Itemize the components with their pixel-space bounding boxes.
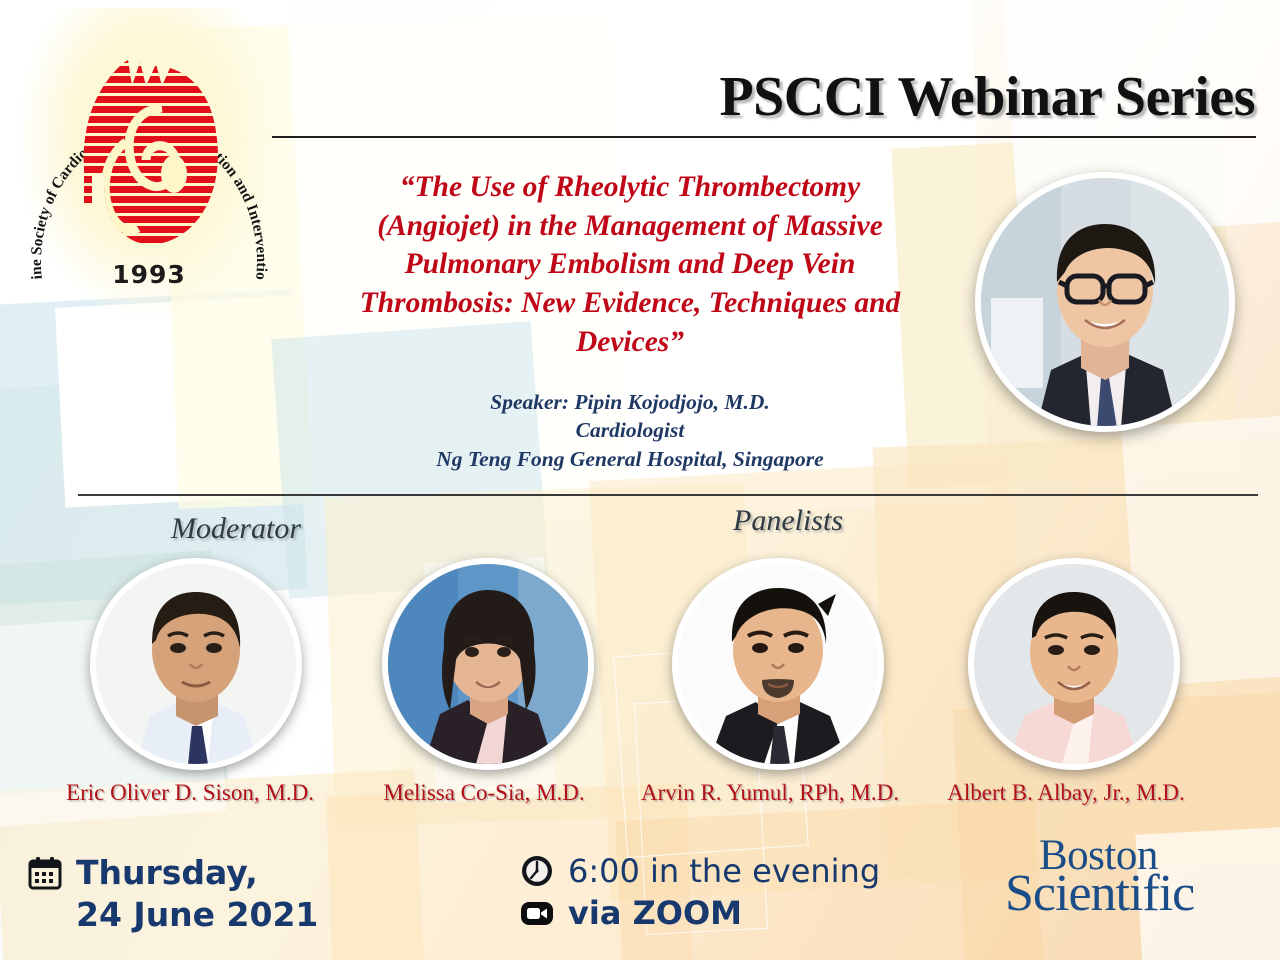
- section-divider: [78, 494, 1258, 496]
- person-card: Eric Oliver D. Sison, M.D.: [90, 558, 340, 806]
- event-day: Thursday,: [76, 852, 318, 894]
- sponsor-line-2: Scientific: [1005, 873, 1245, 916]
- event-time-text: 6:00 in the evening: [568, 852, 880, 890]
- speaker-name: Speaker: Pipin Kojodjojo, M.D.: [330, 388, 930, 416]
- striped-heart-icon: [70, 56, 230, 256]
- person-name: Albert B. Albay, Jr., M.D.: [916, 780, 1216, 806]
- person-card: Arvin R. Yumul, RPh, M.D.: [672, 558, 920, 806]
- page-title-text: PSCCI Webinar Series: [615, 68, 1255, 127]
- speaker-affiliation: Ng Teng Fong General Hospital, Singapore: [330, 445, 930, 473]
- header-divider: [272, 136, 1256, 138]
- event-date-block: Thursday, 24 June 2021: [28, 852, 318, 935]
- person-name: Eric Oliver D. Sison, M.D.: [40, 780, 340, 806]
- person-card: Albert B. Albay, Jr., M.D.: [968, 558, 1216, 806]
- event-platform-text: via ZOOM: [568, 894, 742, 932]
- avatar: [968, 558, 1180, 770]
- person-name: Melissa Co-Sia, M.D.: [334, 780, 634, 806]
- person-name: Arvin R. Yumul, RPh, M.D.: [620, 780, 920, 806]
- talk-title: “The Use of Rheolytic Thrombectomy (Angi…: [300, 168, 960, 361]
- webinar-poster: Philippine Society of Cardiovascular Cat…: [0, 0, 1280, 960]
- moderator-label: Moderator: [126, 512, 346, 546]
- panelists-label: Panelists: [608, 504, 968, 538]
- clock-icon: [520, 854, 554, 888]
- talk-title-line: Devices”: [300, 323, 960, 362]
- speaker-portrait: [975, 172, 1235, 432]
- video-camera-icon: [520, 896, 554, 930]
- speaker-info: Speaker: Pipin Kojodjojo, M.D. Cardiolog…: [330, 388, 930, 473]
- calendar-icon: [28, 856, 62, 890]
- sponsor-logo: Boston Scientific: [1005, 838, 1245, 916]
- talk-title-line: “The Use of Rheolytic Thrombectomy: [300, 168, 960, 207]
- talk-title-line: (Angiojet) in the Management of Massive: [300, 207, 960, 246]
- event-time-block: 6:00 in the evening via ZOOM: [520, 852, 880, 936]
- talk-title-line: Pulmonary Embolism and Deep Vein: [300, 245, 960, 284]
- page-title: PSCCI Webinar Series: [615, 68, 1255, 127]
- speaker-specialty: Cardiologist: [330, 416, 930, 444]
- pscci-logo: Philippine Society of Cardiovascular Cat…: [18, 8, 280, 318]
- avatar: [672, 558, 884, 770]
- event-platform-row: via ZOOM: [520, 894, 880, 932]
- event-time-row: 6:00 in the evening: [520, 852, 880, 890]
- avatar: [382, 558, 594, 770]
- event-date: 24 June 2021: [76, 894, 318, 936]
- logo-year: 1993: [18, 260, 280, 289]
- person-card: Melissa Co-Sia, M.D.: [382, 558, 634, 806]
- talk-title-line: Thrombosis: New Evidence, Techniques and: [300, 284, 960, 323]
- avatar: [90, 558, 302, 770]
